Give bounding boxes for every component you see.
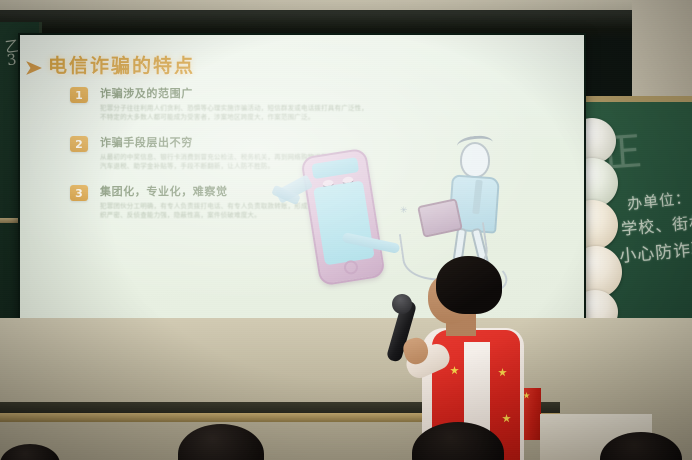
presenter-hair — [436, 256, 502, 314]
phone-screen — [313, 180, 375, 265]
classroom-photo-scene: 乙3 正 办单位： 学校、街村 小心防诈骗 电信诈骗的特点 1 诈骗涉及的范围广… — [0, 0, 692, 460]
phone-home-button — [343, 259, 359, 275]
point-number-badge: 1 — [70, 87, 88, 103]
phone-top-screen — [311, 157, 359, 179]
list-item: 1 诈骗涉及的范围广 犯罪分子往往利用人们贪利、恐惧等心理实施诈骗活动，短信群发… — [70, 87, 400, 121]
point-body: 犯罪分子往往利用人们贪利、恐惧等心理实施诈骗活动，短信群发或电话拨打具有广泛性，… — [100, 104, 368, 121]
businessman-head — [460, 142, 490, 178]
spark-icon: ✳ — [400, 206, 408, 216]
point-number-badge: 3 — [70, 185, 88, 201]
point-number-badge: 2 — [70, 136, 88, 152]
right-wall — [632, 0, 692, 96]
point-heading: 诈骗涉及的范围广 — [100, 87, 400, 101]
slide-title: 电信诈骗的特点 — [48, 51, 195, 78]
cartoon-smartphone-icon — [300, 148, 386, 287]
